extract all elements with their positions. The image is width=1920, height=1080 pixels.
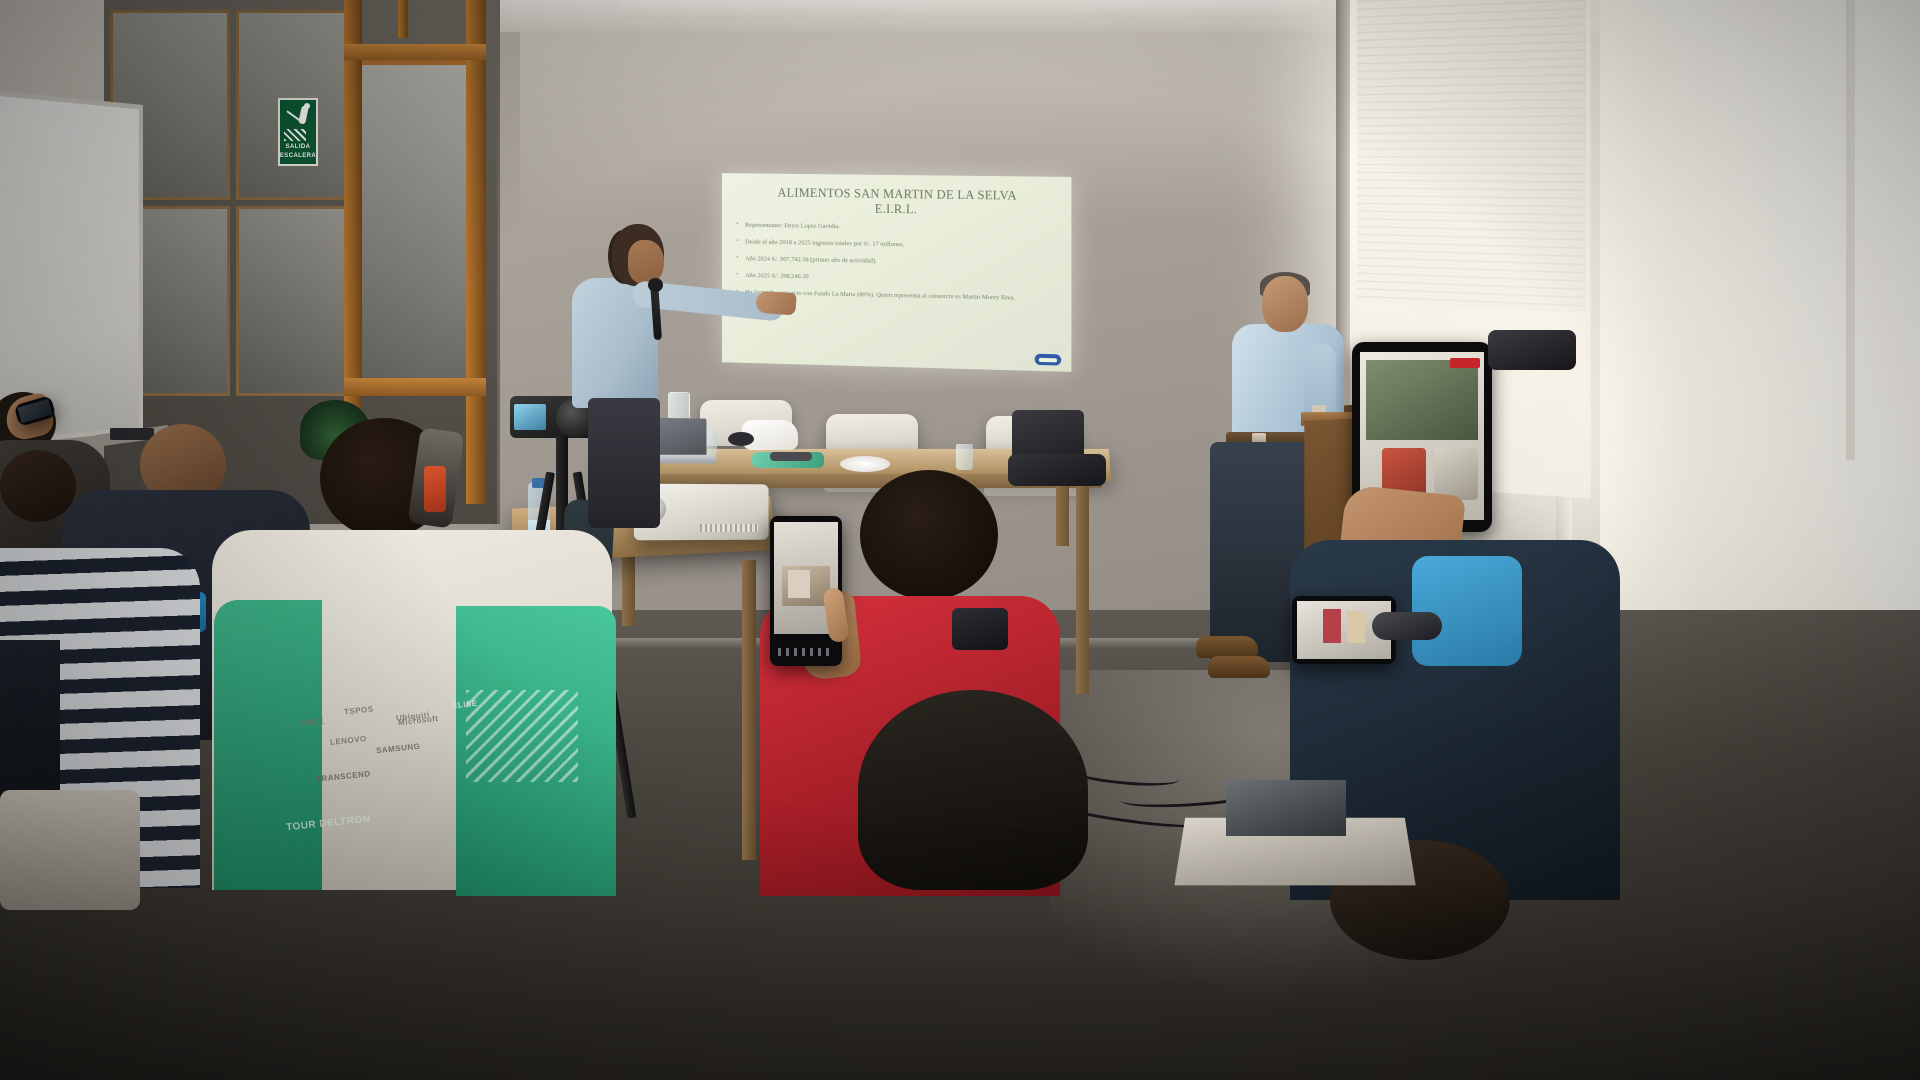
standing-man-head (1262, 276, 1308, 332)
table-leg-2 (1076, 486, 1089, 694)
phone-center-controls[interactable] (778, 648, 834, 656)
side-table-leg-2 (742, 560, 756, 860)
exit-sign: SALIDA ESCALERA (278, 98, 318, 166)
audience-head-center (860, 470, 998, 600)
phone-far-right-top-edge (1488, 330, 1576, 370)
plate (840, 456, 890, 472)
tshirt-sleeve-teal (214, 600, 322, 890)
door-header (344, 44, 486, 60)
chair-foreground-left (0, 790, 140, 910)
ceiling-slab (617, 0, 1323, 20)
exit-sign-label-2: ESCALERA (280, 153, 316, 162)
slide-title-line-2: E.I.R.L. (735, 200, 1061, 219)
slide-bullet-list: Representante: Deysi Lopez Gavidia. Desd… (735, 222, 1061, 304)
marker-on-tray (110, 428, 154, 440)
standing-man-shoe-left (1196, 636, 1258, 658)
cap-logo-patch (424, 466, 446, 512)
presenter-trousers (588, 398, 660, 528)
eyeglasses (770, 452, 812, 461)
presenter-pointing-hand (755, 291, 796, 316)
exit-sign-label-1: SALIDA (286, 144, 311, 153)
camera-flip-screen (514, 404, 546, 430)
audience-head-striped (0, 450, 76, 522)
phone-far-right-preview (1366, 360, 1478, 440)
slide-bullet: Desde el año 2018 a 2025 ingresos totale… (735, 238, 1061, 252)
door-post-right (466, 0, 486, 504)
exit-pictogram-icon (280, 100, 316, 144)
recording-indicator (1450, 358, 1480, 368)
small-camera-center (952, 608, 1008, 650)
slide-bullet: Representante: Deysi Lopez Gavidia. (735, 222, 1061, 235)
tshirt-chevron-graphic (466, 690, 578, 782)
presenter-face (628, 240, 664, 284)
audience-cap-blue (1412, 556, 1522, 666)
transom-mullion (398, 0, 408, 38)
phone-right-subject-2 (1347, 611, 1365, 643)
slide-bullet: Año 2024 S/. 907,742.58 (primer año de a… (735, 255, 1061, 269)
partition-pane-4 (236, 206, 348, 396)
phone-right-subject-1 (1323, 609, 1341, 643)
phone-far-right-thumb-2 (1434, 448, 1478, 500)
projector-vent (700, 524, 758, 532)
foreground-laptop-lid (1226, 780, 1346, 836)
audience-head-cap-bottom (858, 690, 1088, 890)
audience-glasses (1372, 612, 1442, 640)
company-logo-icon (1035, 354, 1062, 366)
phone-center-subject (788, 570, 810, 598)
slide-bullet: Año 2025 S/. 398,246.30 (735, 272, 1061, 287)
black-pouch (728, 432, 754, 446)
photo-scene: SALIDA ESCALERA ALIMENTOS SAN MARTIN DE … (0, 0, 1920, 1080)
door-rail (344, 378, 486, 396)
standing-man-shoe-right (1208, 656, 1270, 678)
door-glass-pane (356, 60, 474, 390)
drinking-glass-2 (956, 444, 973, 470)
microphone-head-icon (648, 278, 663, 292)
table-leg-3 (1056, 486, 1069, 546)
black-bag-2 (1008, 454, 1106, 486)
projected-slide: ALIMENTOS SAN MARTIN DE LA SELVA E.I.R.L… (722, 173, 1071, 372)
